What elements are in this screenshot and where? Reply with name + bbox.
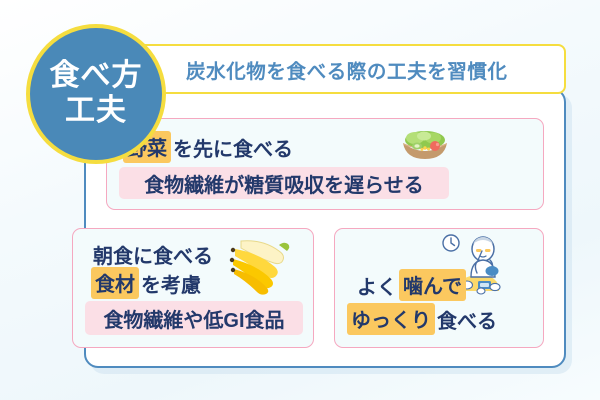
- badge-line-1: 食べ方: [50, 59, 143, 94]
- card3-headline-2: ゆっくり 食べる: [347, 303, 499, 335]
- card2-headline-2: 食材 を考慮: [91, 267, 203, 299]
- page-title: 炭水化物を食べる際の工夫を習慣化: [186, 55, 508, 84]
- card2-rest-text: を考慮: [139, 268, 203, 299]
- badge-circle: 食べ方 工夫: [26, 24, 166, 164]
- card3-line2-suffix: 食べる: [435, 304, 499, 335]
- card2-line1-text: 朝食に食べる: [91, 239, 215, 270]
- bananas-icon: [221, 235, 305, 299]
- card1-rest-text: を先に食べる: [171, 132, 295, 163]
- header-bar: 炭水化物を食べる際の工夫を習慣化: [108, 44, 566, 94]
- badge-line-2: 工夫: [65, 94, 127, 129]
- card1-detail-band: 食物繊維が糖質吸収を遅らせる: [119, 167, 449, 199]
- card2-headline-1: 朝食に食べる: [91, 239, 215, 270]
- card3-highlight-word-2: ゆっくり: [347, 303, 435, 335]
- card-breakfast-ingredients: 朝食に食べる 食材 を考慮 食物繊維や低GI食品: [72, 228, 314, 348]
- card3-headline-1: よく 噛んで: [355, 269, 466, 301]
- card3-highlight-word-1: 噛んで: [399, 269, 466, 301]
- card3-line1-prefix: よく: [355, 270, 399, 301]
- card-vegetables-first: 野菜 を先に食べる 食物繊維が糖質吸収を遅らせる: [106, 118, 544, 210]
- salad-bowl-icon: [397, 127, 453, 165]
- card-chew-slowly: よく 噛んで ゆっくり 食べる: [334, 228, 544, 348]
- card2-detail-band: 食物繊維や低GI食品: [85, 301, 303, 335]
- card2-highlight-word: 食材: [91, 267, 139, 299]
